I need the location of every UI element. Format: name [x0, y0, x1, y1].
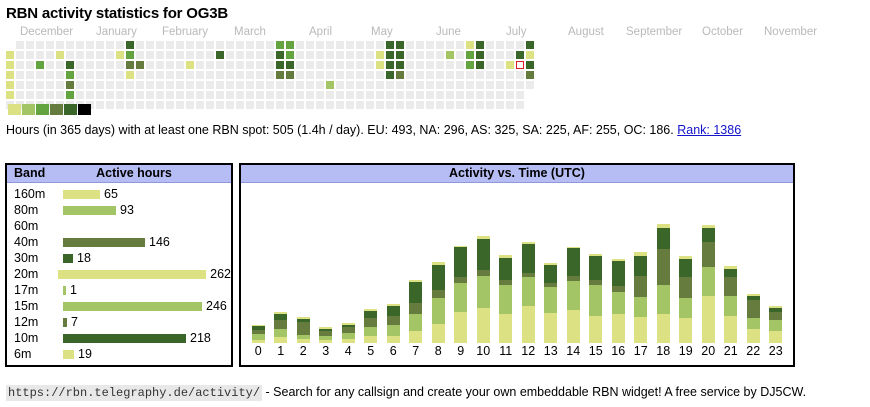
- calendar-day-cell[interactable]: [416, 81, 424, 89]
- calendar-day-cell[interactable]: [406, 81, 414, 89]
- calendar-day-cell[interactable]: [466, 81, 474, 89]
- calendar-day-cell[interactable]: [416, 51, 424, 59]
- calendar-day-cell[interactable]: [156, 61, 164, 69]
- calendar-day-cell[interactable]: [446, 81, 454, 89]
- calendar-day-cell-today[interactable]: [516, 61, 524, 69]
- calendar-day-cell[interactable]: [286, 51, 294, 59]
- calendar-day-cell[interactable]: [186, 71, 194, 79]
- calendar-day-cell[interactable]: [266, 91, 274, 99]
- calendar-day-cell[interactable]: [186, 41, 194, 49]
- calendar-day-cell[interactable]: [166, 51, 174, 59]
- calendar-day-cell[interactable]: [36, 81, 44, 89]
- calendar-day-cell[interactable]: [166, 61, 174, 69]
- calendar-day-cell[interactable]: [156, 71, 164, 79]
- calendar-day-cell[interactable]: [146, 91, 154, 99]
- calendar-day-cell[interactable]: [276, 91, 284, 99]
- calendar-day-cell[interactable]: [166, 71, 174, 79]
- calendar-day-cell[interactable]: [266, 41, 274, 49]
- calendar-day-cell[interactable]: [206, 81, 214, 89]
- calendar-day-cell[interactable]: [356, 101, 364, 109]
- calendar-day-cell[interactable]: [186, 51, 194, 59]
- calendar-day-cell[interactable]: [426, 81, 434, 89]
- calendar-day-cell[interactable]: [6, 71, 14, 79]
- calendar-day-cell[interactable]: [356, 61, 364, 69]
- calendar-day-cell[interactable]: [216, 51, 224, 59]
- calendar-day-cell[interactable]: [136, 51, 144, 59]
- hour-bar-column[interactable]: [382, 187, 405, 343]
- calendar-day-cell[interactable]: [46, 81, 54, 89]
- calendar-day-cell[interactable]: [56, 61, 64, 69]
- calendar-day-cell[interactable]: [156, 81, 164, 89]
- calendar-day-cell[interactable]: [366, 41, 374, 49]
- calendar-day-cell[interactable]: [416, 101, 424, 109]
- calendar-day-cell[interactable]: [526, 51, 534, 59]
- calendar-day-cell[interactable]: [16, 41, 24, 49]
- calendar-day-cell[interactable]: [236, 91, 244, 99]
- calendar-day-cell[interactable]: [26, 51, 34, 59]
- calendar-day-cell[interactable]: [96, 91, 104, 99]
- calendar-day-cell[interactable]: [486, 81, 494, 89]
- calendar-day-cell[interactable]: [456, 61, 464, 69]
- hour-bar-column[interactable]: [765, 187, 788, 343]
- calendar-day-cell[interactable]: [196, 51, 204, 59]
- calendar-day-cell[interactable]: [176, 91, 184, 99]
- hour-bar-column[interactable]: [427, 187, 450, 343]
- calendar-day-cell[interactable]: [166, 41, 174, 49]
- calendar-day-cell[interactable]: [296, 41, 304, 49]
- calendar-day-cell[interactable]: [396, 101, 404, 109]
- calendar-day-cell[interactable]: [236, 41, 244, 49]
- calendar-day-cell[interactable]: [226, 91, 234, 99]
- hour-bar-column[interactable]: [517, 187, 540, 343]
- calendar-day-cell[interactable]: [16, 61, 24, 69]
- calendar-day-cell[interactable]: [336, 91, 344, 99]
- calendar-day-cell[interactable]: [136, 41, 144, 49]
- calendar-day-cell[interactable]: [366, 71, 374, 79]
- calendar-day-cell[interactable]: [416, 91, 424, 99]
- calendar-day-cell[interactable]: [286, 71, 294, 79]
- calendar-day-cell[interactable]: [196, 41, 204, 49]
- calendar-day-cell[interactable]: [316, 41, 324, 49]
- calendar-day-cell[interactable]: [226, 81, 234, 89]
- calendar-day-cell[interactable]: [176, 51, 184, 59]
- calendar-day-cell[interactable]: [16, 51, 24, 59]
- calendar-day-cell[interactable]: [436, 41, 444, 49]
- calendar-day-cell[interactable]: [356, 71, 364, 79]
- calendar-day-cell[interactable]: [396, 41, 404, 49]
- hour-bar-column[interactable]: [495, 187, 518, 343]
- calendar-day-cell[interactable]: [76, 41, 84, 49]
- calendar-day-cell[interactable]: [86, 51, 94, 59]
- calendar-day-cell[interactable]: [236, 101, 244, 109]
- calendar-day-cell[interactable]: [456, 51, 464, 59]
- calendar-day-cell[interactable]: [486, 71, 494, 79]
- calendar-day-cell[interactable]: [16, 81, 24, 89]
- calendar-day-cell[interactable]: [126, 91, 134, 99]
- calendar-day-cell[interactable]: [376, 41, 384, 49]
- calendar-day-cell[interactable]: [246, 41, 254, 49]
- calendar-day-cell[interactable]: [336, 51, 344, 59]
- calendar-day-cell[interactable]: [466, 101, 474, 109]
- calendar-day-cell[interactable]: [286, 81, 294, 89]
- hour-bar-column[interactable]: [630, 187, 653, 343]
- calendar-day-cell[interactable]: [156, 41, 164, 49]
- calendar-day-cell[interactable]: [66, 71, 74, 79]
- hour-bar-column[interactable]: [697, 187, 720, 343]
- calendar-day-cell[interactable]: [486, 61, 494, 69]
- hour-bar-column[interactable]: [472, 187, 495, 343]
- calendar-day-cell[interactable]: [146, 101, 154, 109]
- calendar-day-cell[interactable]: [126, 71, 134, 79]
- calendar-day-cell[interactable]: [296, 101, 304, 109]
- calendar-day-cell[interactable]: [86, 71, 94, 79]
- calendar-day-cell[interactable]: [206, 61, 214, 69]
- calendar-day-cell[interactable]: [6, 61, 14, 69]
- calendar-day-cell[interactable]: [486, 101, 494, 109]
- calendar-day-cell[interactable]: [366, 91, 374, 99]
- calendar-day-cell[interactable]: [126, 41, 134, 49]
- calendar-day-cell[interactable]: [56, 91, 64, 99]
- calendar-day-cell[interactable]: [176, 101, 184, 109]
- calendar-day-cell[interactable]: [306, 61, 314, 69]
- calendar-day-cell[interactable]: [146, 81, 154, 89]
- calendar-day-cell[interactable]: [346, 71, 354, 79]
- calendar-day-cell[interactable]: [446, 61, 454, 69]
- calendar-day-cell[interactable]: [76, 91, 84, 99]
- hour-bar-column[interactable]: [405, 187, 428, 343]
- calendar-day-cell[interactable]: [316, 91, 324, 99]
- calendar-day-cell[interactable]: [256, 61, 264, 69]
- calendar-day-cell[interactable]: [436, 71, 444, 79]
- calendar-day-cell[interactable]: [516, 51, 524, 59]
- calendar-day-cell[interactable]: [146, 51, 154, 59]
- calendar-day-cell[interactable]: [46, 61, 54, 69]
- calendar-day-cell[interactable]: [286, 91, 294, 99]
- calendar-day-cell[interactable]: [466, 91, 474, 99]
- calendar-day-cell[interactable]: [516, 91, 524, 99]
- calendar-day-cell[interactable]: [396, 51, 404, 59]
- calendar-day-cell[interactable]: [426, 51, 434, 59]
- calendar-day-cell[interactable]: [226, 101, 234, 109]
- calendar-day-cell[interactable]: [86, 41, 94, 49]
- calendar-day-cell[interactable]: [86, 81, 94, 89]
- calendar-day-cell[interactable]: [26, 91, 34, 99]
- calendar-day-cell[interactable]: [36, 71, 44, 79]
- calendar-day-cell[interactable]: [96, 71, 104, 79]
- calendar-day-cell[interactable]: [26, 41, 34, 49]
- calendar-day-cell[interactable]: [6, 91, 14, 99]
- calendar-day-cell[interactable]: [246, 101, 254, 109]
- calendar-day-cell[interactable]: [266, 71, 274, 79]
- service-url[interactable]: https://rbn.telegraphy.de/activity/: [6, 385, 262, 401]
- calendar-day-cell[interactable]: [316, 101, 324, 109]
- calendar-day-cell[interactable]: [506, 41, 514, 49]
- calendar-day-cell[interactable]: [26, 61, 34, 69]
- calendar-day-cell[interactable]: [346, 51, 354, 59]
- calendar-day-cell[interactable]: [216, 61, 224, 69]
- calendar-day-cell[interactable]: [196, 71, 204, 79]
- calendar-day-cell[interactable]: [376, 91, 384, 99]
- calendar-day-cell[interactable]: [446, 101, 454, 109]
- calendar-day-cell[interactable]: [236, 71, 244, 79]
- calendar-day-cell[interactable]: [166, 91, 174, 99]
- calendar-day-cell[interactable]: [416, 41, 424, 49]
- calendar-day-cell[interactable]: [436, 51, 444, 59]
- calendar-day-cell[interactable]: [276, 81, 284, 89]
- calendar-day-cell[interactable]: [446, 41, 454, 49]
- calendar-day-cell[interactable]: [496, 41, 504, 49]
- calendar-day-cell[interactable]: [296, 81, 304, 89]
- calendar-day-cell[interactable]: [476, 71, 484, 79]
- calendar-day-cell[interactable]: [116, 71, 124, 79]
- hour-bar-column[interactable]: [540, 187, 563, 343]
- calendar-day-cell[interactable]: [466, 41, 474, 49]
- calendar-day-cell[interactable]: [396, 71, 404, 79]
- calendar-day-cell[interactable]: [356, 91, 364, 99]
- hour-bar-column[interactable]: [562, 187, 585, 343]
- calendar-day-cell[interactable]: [186, 91, 194, 99]
- calendar-day-cell[interactable]: [416, 61, 424, 69]
- calendar-day-cell[interactable]: [446, 71, 454, 79]
- calendar-day-cell[interactable]: [26, 81, 34, 89]
- calendar-day-cell[interactable]: [326, 51, 334, 59]
- calendar-day-cell[interactable]: [76, 51, 84, 59]
- calendar-day-cell[interactable]: [466, 51, 474, 59]
- hour-bar-column[interactable]: [652, 187, 675, 343]
- calendar-day-cell[interactable]: [376, 101, 384, 109]
- calendar-day-cell[interactable]: [106, 51, 114, 59]
- calendar-day-cell[interactable]: [96, 81, 104, 89]
- calendar-day-cell[interactable]: [26, 71, 34, 79]
- calendar-day-cell[interactable]: [346, 101, 354, 109]
- calendar-day-cell[interactable]: [446, 51, 454, 59]
- calendar-day-cell[interactable]: [496, 61, 504, 69]
- calendar-day-cell[interactable]: [76, 61, 84, 69]
- calendar-day-cell[interactable]: [186, 61, 194, 69]
- rank-link[interactable]: Rank: 1386: [677, 123, 741, 137]
- calendar-day-cell[interactable]: [136, 101, 144, 109]
- calendar-day-cell[interactable]: [326, 81, 334, 89]
- hour-bar-column[interactable]: [247, 187, 270, 343]
- calendar-day-cell[interactable]: [116, 41, 124, 49]
- calendar-day-cell[interactable]: [46, 41, 54, 49]
- calendar-day-cell[interactable]: [316, 61, 324, 69]
- calendar-day-cell[interactable]: [346, 91, 354, 99]
- calendar-day-cell[interactable]: [6, 51, 14, 59]
- calendar-day-cell[interactable]: [206, 101, 214, 109]
- calendar-day-cell[interactable]: [286, 101, 294, 109]
- calendar-day-cell[interactable]: [146, 71, 154, 79]
- calendar-day-cell[interactable]: [256, 71, 264, 79]
- calendar-day-cell[interactable]: [236, 51, 244, 59]
- calendar-day-cell[interactable]: [516, 101, 524, 109]
- calendar-day-cell[interactable]: [206, 51, 214, 59]
- calendar-day-cell[interactable]: [356, 41, 364, 49]
- calendar-day-cell[interactable]: [6, 81, 14, 89]
- calendar-day-cell[interactable]: [286, 41, 294, 49]
- calendar-day-cell[interactable]: [206, 41, 214, 49]
- calendar-day-cell[interactable]: [526, 61, 534, 69]
- calendar-day-cell[interactable]: [256, 51, 264, 59]
- calendar-day-cell[interactable]: [406, 91, 414, 99]
- calendar-day-cell[interactable]: [276, 101, 284, 109]
- calendar-day-cell[interactable]: [476, 81, 484, 89]
- hour-bar-column[interactable]: [742, 187, 765, 343]
- calendar-day-cell[interactable]: [106, 81, 114, 89]
- calendar-day-cell[interactable]: [326, 71, 334, 79]
- calendar-day-cell[interactable]: [466, 61, 474, 69]
- calendar-day-cell[interactable]: [156, 91, 164, 99]
- calendar-day-cell[interactable]: [136, 61, 144, 69]
- calendar-day-cell[interactable]: [366, 81, 374, 89]
- calendar-day-cell[interactable]: [496, 71, 504, 79]
- calendar-day-cell[interactable]: [16, 71, 24, 79]
- calendar-day-cell[interactable]: [226, 51, 234, 59]
- calendar-day-cell[interactable]: [296, 71, 304, 79]
- calendar-day-cell[interactable]: [426, 61, 434, 69]
- calendar-day-cell[interactable]: [276, 51, 284, 59]
- calendar-day-cell[interactable]: [226, 61, 234, 69]
- calendar-day-cell[interactable]: [116, 91, 124, 99]
- hour-bar-column[interactable]: [675, 187, 698, 343]
- calendar-day-cell[interactable]: [36, 51, 44, 59]
- calendar-day-cell[interactable]: [76, 81, 84, 89]
- calendar-day-cell[interactable]: [256, 101, 264, 109]
- calendar-day-cell[interactable]: [66, 61, 74, 69]
- calendar-day-cell[interactable]: [266, 101, 274, 109]
- calendar-day-cell[interactable]: [366, 51, 374, 59]
- calendar-day-cell[interactable]: [156, 51, 164, 59]
- calendar-day-cell[interactable]: [326, 41, 334, 49]
- calendar-day-cell[interactable]: [96, 61, 104, 69]
- calendar-day-cell[interactable]: [66, 41, 74, 49]
- calendar-day-cell[interactable]: [36, 41, 44, 49]
- calendar-day-cell[interactable]: [166, 101, 174, 109]
- hour-bar-column[interactable]: [607, 187, 630, 343]
- calendar-day-cell[interactable]: [106, 61, 114, 69]
- calendar-day-cell[interactable]: [306, 91, 314, 99]
- calendar-day-cell[interactable]: [246, 61, 254, 69]
- calendar-day-cell[interactable]: [196, 81, 204, 89]
- calendar-day-cell[interactable]: [506, 101, 514, 109]
- calendar-day-cell[interactable]: [216, 41, 224, 49]
- calendar-day-cell[interactable]: [376, 51, 384, 59]
- calendar-day-cell[interactable]: [56, 51, 64, 59]
- calendar-day-cell[interactable]: [346, 81, 354, 89]
- calendar-day-cell[interactable]: [376, 81, 384, 89]
- calendar-day-cell[interactable]: [36, 61, 44, 69]
- calendar-day-cell[interactable]: [456, 81, 464, 89]
- calendar-day-cell[interactable]: [236, 61, 244, 69]
- calendar-day-cell[interactable]: [146, 41, 154, 49]
- calendar-day-cell[interactable]: [526, 81, 534, 89]
- calendar-day-cell[interactable]: [346, 61, 354, 69]
- calendar-day-cell[interactable]: [36, 91, 44, 99]
- calendar-day-cell[interactable]: [106, 91, 114, 99]
- calendar-day-cell[interactable]: [316, 71, 324, 79]
- hour-bar-column[interactable]: [450, 187, 473, 343]
- calendar-day-cell[interactable]: [256, 81, 264, 89]
- calendar-day-cell[interactable]: [186, 81, 194, 89]
- calendar-day-cell[interactable]: [326, 101, 334, 109]
- calendar-day-cell[interactable]: [396, 91, 404, 99]
- calendar-day-cell[interactable]: [406, 71, 414, 79]
- calendar-day-cell[interactable]: [86, 61, 94, 69]
- calendar-day-cell[interactable]: [376, 61, 384, 69]
- calendar-day-cell[interactable]: [216, 91, 224, 99]
- calendar-day-cell[interactable]: [136, 81, 144, 89]
- calendar-day-cell[interactable]: [216, 101, 224, 109]
- calendar-day-cell[interactable]: [176, 41, 184, 49]
- calendar-day-cell[interactable]: [496, 51, 504, 59]
- calendar-day-cell[interactable]: [226, 41, 234, 49]
- calendar-day-cell[interactable]: [476, 91, 484, 99]
- calendar-day-cell[interactable]: [356, 51, 364, 59]
- calendar-day-cell[interactable]: [296, 91, 304, 99]
- calendar-day-cell[interactable]: [426, 71, 434, 79]
- calendar-day-cell[interactable]: [456, 91, 464, 99]
- calendar-day-cell[interactable]: [506, 61, 514, 69]
- calendar-day-cell[interactable]: [516, 41, 524, 49]
- calendar-day-cell[interactable]: [236, 81, 244, 89]
- calendar-day-cell[interactable]: [376, 71, 384, 79]
- calendar-day-cell[interactable]: [56, 41, 64, 49]
- calendar-day-cell[interactable]: [46, 51, 54, 59]
- calendar-day-cell[interactable]: [396, 61, 404, 69]
- calendar-day-cell[interactable]: [336, 61, 344, 69]
- calendar-day-cell[interactable]: [436, 101, 444, 109]
- calendar-day-cell[interactable]: [386, 71, 394, 79]
- calendar-day-cell[interactable]: [426, 41, 434, 49]
- calendar-day-cell[interactable]: [106, 41, 114, 49]
- calendar-day-cell[interactable]: [326, 91, 334, 99]
- calendar-day-cell[interactable]: [426, 101, 434, 109]
- calendar-day-cell[interactable]: [126, 61, 134, 69]
- calendar-day-cell[interactable]: [476, 41, 484, 49]
- calendar-day-cell[interactable]: [486, 51, 494, 59]
- calendar-day-cell[interactable]: [216, 81, 224, 89]
- calendar-day-cell[interactable]: [346, 41, 354, 49]
- calendar-day-cell[interactable]: [116, 51, 124, 59]
- calendar-day-cell[interactable]: [336, 81, 344, 89]
- calendar-day-cell[interactable]: [506, 71, 514, 79]
- calendar-day-cell[interactable]: [396, 81, 404, 89]
- calendar-day-cell[interactable]: [496, 91, 504, 99]
- calendar-day-cell[interactable]: [316, 81, 324, 89]
- calendar-day-cell[interactable]: [246, 51, 254, 59]
- calendar-day-cell[interactable]: [506, 81, 514, 89]
- calendar-day-cell[interactable]: [116, 81, 124, 89]
- calendar-day-cell[interactable]: [326, 61, 334, 69]
- calendar-day-cell[interactable]: [336, 71, 344, 79]
- calendar-day-cell[interactable]: [176, 81, 184, 89]
- calendar-day-cell[interactable]: [276, 41, 284, 49]
- calendar-day-cell[interactable]: [306, 51, 314, 59]
- calendar-day-cell[interactable]: [386, 61, 394, 69]
- calendar-day-cell[interactable]: [486, 91, 494, 99]
- calendar-day-cell[interactable]: [126, 101, 134, 109]
- calendar-day-cell[interactable]: [186, 101, 194, 109]
- calendar-day-cell[interactable]: [276, 71, 284, 79]
- calendar-day-cell[interactable]: [96, 51, 104, 59]
- calendar-day-cell[interactable]: [56, 81, 64, 89]
- calendar-day-cell[interactable]: [406, 51, 414, 59]
- calendar-day-cell[interactable]: [176, 61, 184, 69]
- calendar-day-cell[interactable]: [476, 51, 484, 59]
- calendar-day-cell[interactable]: [356, 81, 364, 89]
- calendar-day-cell[interactable]: [256, 91, 264, 99]
- calendar-day-cell[interactable]: [476, 101, 484, 109]
